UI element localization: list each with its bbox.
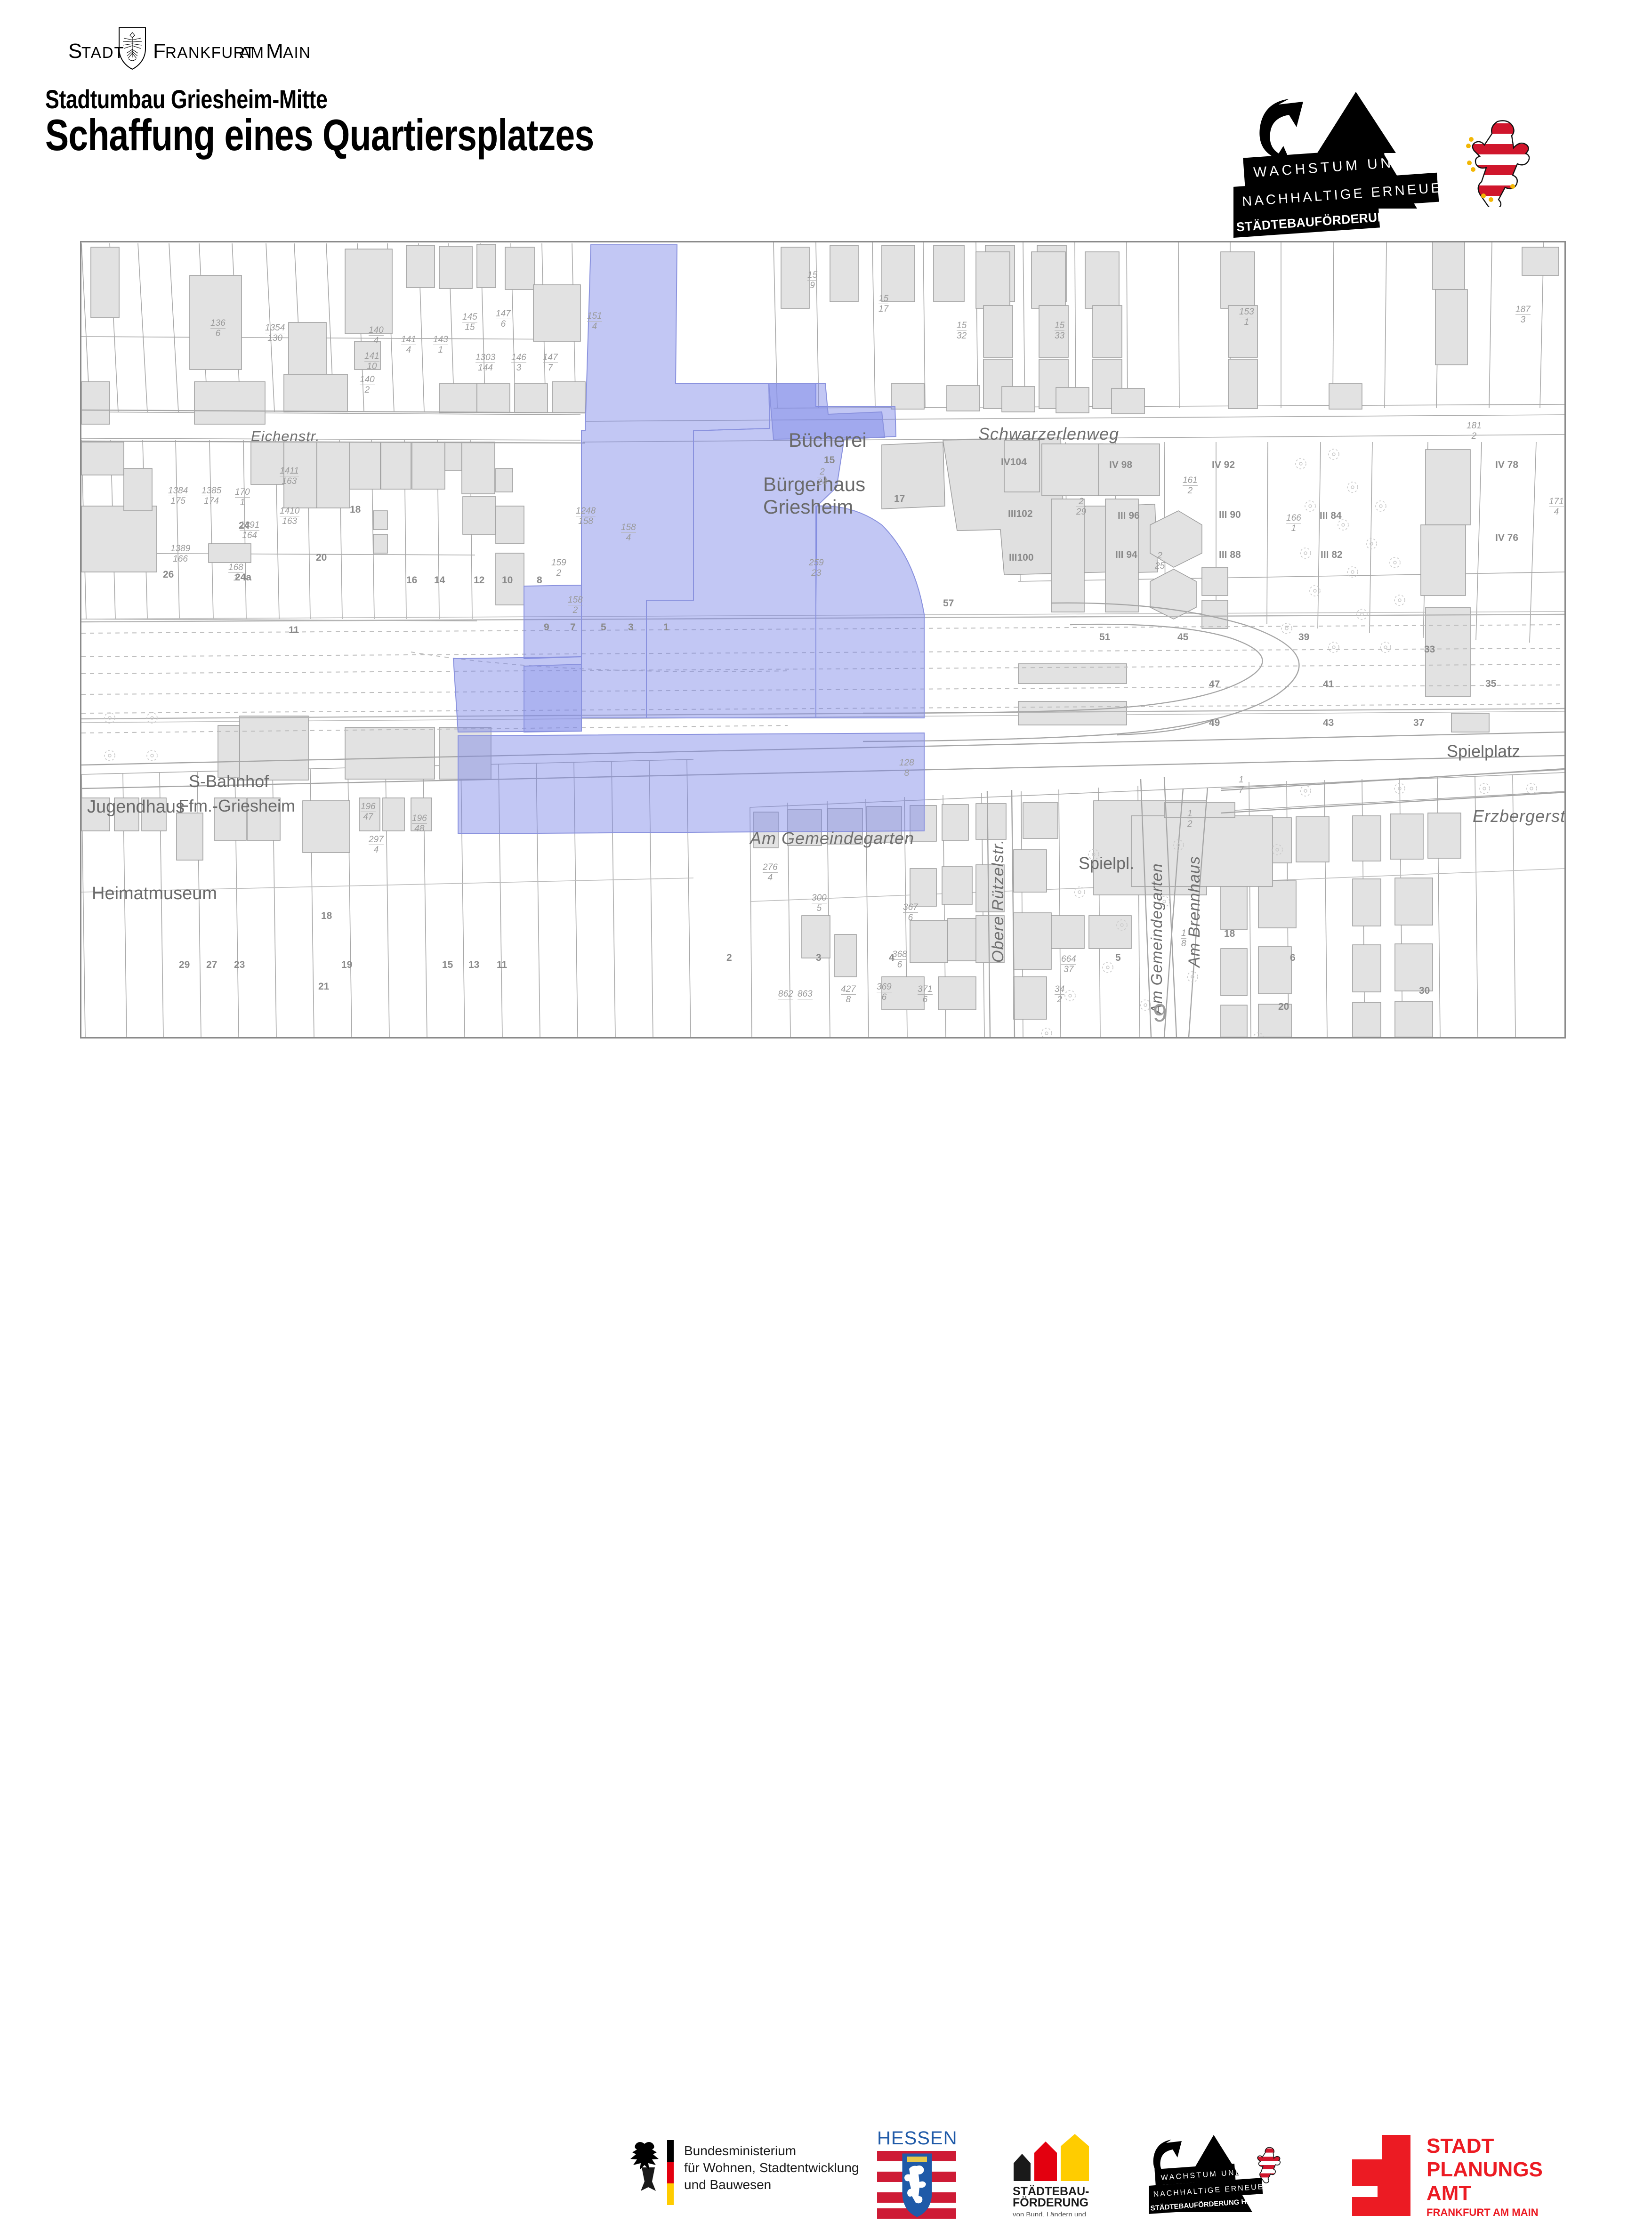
north-marker: 9	[1153, 998, 1167, 1028]
parcel-number: 19647	[361, 802, 376, 821]
house-number: 8	[537, 575, 542, 586]
house-number: 37	[1413, 717, 1424, 729]
parcel-number: 159	[807, 271, 817, 290]
house-number: III 84	[1320, 510, 1342, 522]
parcel-number: 3005	[812, 894, 827, 913]
site-map[interactable]: Eichenstr. Schwarzerlenweg Erzbergerstr.…	[80, 241, 1566, 1039]
house-number: 30	[1419, 985, 1430, 997]
hessen-wordmark: HESSEN	[877, 2129, 958, 2149]
stadtplanungsamt-logo: STADT PLANUNGS AMT FRANKFURT AM MAIN	[1332, 2130, 1568, 2220]
parcel-number: 862	[778, 990, 793, 999]
poi-label-s-bahnhof: S-Bahnhof	[189, 772, 269, 791]
house-number: IV 78	[1495, 459, 1518, 471]
poi-label-buecherei: Bücherei	[789, 429, 867, 451]
parcel-number: 1366	[210, 319, 226, 338]
house-number: 45	[1177, 632, 1188, 643]
bmwsb-line2: für Wohnen, Stadtentwicklung	[684, 2160, 859, 2175]
parcel-number: 25923	[809, 558, 824, 578]
street-label-am-gemeindegarten: Am Gemeindegarten	[750, 829, 914, 848]
parcel-number: 1701	[235, 488, 250, 507]
svg-text:AM: AM	[240, 44, 265, 61]
parcel-number: 12	[1187, 809, 1193, 829]
parcel-number: 1384175	[168, 486, 188, 506]
parcel-number: 2764	[763, 863, 778, 882]
house-number: 18	[350, 504, 361, 515]
parcel-number: 19648	[412, 814, 427, 833]
page-subtitle: Stadtumbau Griesheim-Mitte	[45, 86, 327, 113]
street-label-obere-ruetzelstr: Obere Rützelstr.	[989, 839, 1007, 963]
house-number: 35	[1485, 678, 1496, 690]
street-label-am-brennhaus: Am Brennhaus	[1185, 856, 1204, 967]
page-header: S TADT F RANKFURT AM M AIN Stadtumbau Gr…	[0, 0, 1652, 235]
house-number: 2	[726, 952, 732, 964]
three-houses-icon	[1014, 2134, 1089, 2181]
parcel-number: 863	[798, 990, 813, 999]
house-number: 5	[601, 622, 606, 633]
house-number: 33	[1424, 644, 1435, 655]
hessen-lion-crest-icon	[1452, 113, 1537, 207]
house-number: 10	[502, 575, 513, 586]
parcel-number: 1873	[1515, 305, 1531, 324]
parcel-number: 1714	[1549, 497, 1564, 516]
house-number: 41	[1323, 679, 1334, 690]
house-number: 9	[544, 622, 549, 633]
parcel-number: 3686	[892, 950, 907, 969]
house-number: 1	[663, 622, 669, 633]
spa-line2: PLANUNGS	[1426, 2158, 1543, 2181]
house-number: 39	[1298, 632, 1309, 643]
parcel-number: 3676	[903, 903, 918, 922]
house-number: 15	[442, 959, 453, 971]
street-label-erzbergerstr: Erzbergerstr.	[1473, 806, 1566, 826]
house-number: III 82	[1321, 549, 1343, 561]
parcel-number: 1391164	[240, 521, 259, 540]
parcel-number: 1303144	[475, 353, 495, 372]
house-number: 29	[179, 959, 190, 971]
house-number: IV 92	[1212, 459, 1235, 471]
house-number: 7	[570, 622, 576, 633]
hessen-logo: HESSEN	[873, 2129, 963, 2219]
house-number: 27	[206, 959, 217, 971]
hessen-lion-crest-icon	[1249, 2144, 1283, 2183]
house-number: 18	[321, 910, 332, 922]
house-number: 14	[434, 575, 445, 586]
parcel-number: 18	[1181, 929, 1186, 948]
house-number: 20	[1278, 1001, 1289, 1013]
street-label-am-gemeindegarten-ost: Am Gemeindegarten	[1148, 863, 1166, 1015]
parcel-number: 342	[1055, 985, 1064, 1004]
parcel-number: 224	[817, 467, 827, 487]
svg-text:S: S	[68, 40, 83, 63]
staedtebau-line2: FÖRDERUNG	[1013, 2196, 1088, 2209]
bmwsb-line3: und Bauwesen	[684, 2177, 771, 2192]
poi-label-griesheim: Griesheim	[763, 496, 853, 518]
parcel-number: 225	[1155, 551, 1165, 571]
parcel-number: 229	[1076, 497, 1086, 516]
parcel-number: 1582	[568, 596, 583, 615]
parcel-number: 1612	[1183, 476, 1198, 495]
poi-label-spielpl: Spielpl.	[1079, 853, 1134, 873]
parcel-number: 1431	[433, 335, 448, 354]
house-number: III100	[1009, 552, 1034, 564]
parcel-number: 1477	[543, 353, 558, 372]
house-number: 19	[341, 959, 352, 971]
house-number: 17	[894, 493, 905, 505]
staedtebaufoerderung-logo: STÄDTEBAU- FÖRDERUNG von Bund, Ländern u…	[1005, 2134, 1118, 2216]
spa-line3: AMT	[1426, 2182, 1471, 2205]
parcel-number: 1248158	[576, 507, 596, 526]
poi-label-ffm-griesheim: Ffm.-Griesheim	[178, 796, 295, 816]
house-number: 21	[318, 981, 329, 992]
house-number: 13	[468, 959, 479, 971]
parcel-number: 4278	[841, 985, 856, 1004]
parcel-number: 1354130	[265, 323, 285, 343]
parcel-number: 1288	[899, 758, 914, 778]
parcel-number: 1414	[401, 335, 416, 354]
parcel-number: 3696	[877, 982, 892, 1002]
house-number: III 90	[1219, 509, 1241, 521]
parcel-number: 1404	[369, 326, 384, 345]
house-number: III 96	[1118, 510, 1140, 522]
house-number: 18	[1224, 928, 1235, 940]
svg-text:TADT: TADT	[81, 44, 125, 61]
house-number: 12	[474, 575, 484, 586]
house-number: III 94	[1115, 549, 1137, 561]
footer-logo-bar: Bundesministerium für Wohnen, Stadtentwi…	[0, 1062, 1652, 1167]
poi-label-heimatmuseum: Heimatmuseum	[92, 884, 217, 904]
page-title: Schaffung eines Quartiersplatzes	[45, 113, 594, 157]
parcel-number: 14110	[364, 352, 379, 371]
parcel-number: 1661	[1286, 514, 1301, 533]
parcel-number: 1592	[551, 558, 566, 578]
parcel-number: 1514	[587, 312, 602, 331]
parcel-number: 1532	[957, 321, 967, 340]
spa-line1: STADT	[1426, 2134, 1494, 2158]
parcel-number: 1389166	[170, 544, 190, 564]
parcel-number: 3716	[918, 985, 933, 1004]
house-number: 16	[406, 575, 417, 586]
house-number: III 88	[1219, 549, 1241, 561]
poi-label-jugendhaus: Jugendhaus	[87, 797, 185, 817]
house-number: 15	[824, 455, 835, 466]
bundesadler-icon	[630, 2142, 659, 2191]
parcel-number: 2974	[369, 835, 384, 854]
parcel-number: 1402	[360, 375, 375, 394]
house-number: 26	[163, 569, 174, 580]
parcel-number: 17	[1239, 775, 1244, 795]
wachstum-logo-small: WACHSTUM UND NACHHALTIGE ERNEUERUNG STÄD…	[1149, 2134, 1299, 2216]
svg-text:AIN: AIN	[283, 44, 311, 61]
spa-line4: FRANKFURT AM MAIN	[1426, 2206, 1538, 2218]
house-number: 3	[628, 622, 634, 633]
house-number: IV 76	[1495, 532, 1518, 544]
svg-text:M: M	[266, 40, 284, 63]
house-number: 6	[1290, 952, 1296, 964]
parcel-number: 1812	[1467, 421, 1482, 441]
house-number: 43	[1323, 717, 1334, 729]
house-number: 11	[497, 959, 507, 971]
street-label-eichenstr: Eichenstr.	[251, 428, 320, 445]
street-label-schwarzerlenweg: Schwarzerlenweg	[978, 424, 1119, 444]
house-number: 47	[1209, 679, 1220, 690]
poi-label-buergerhaus: Bürgerhaus	[763, 473, 865, 496]
parcel-number: 1411163	[280, 467, 299, 486]
house-number: 57	[943, 598, 954, 609]
staedtebau-line3: von Bund, Ländern und	[1013, 2211, 1086, 2216]
house-number: 51	[1099, 632, 1110, 643]
house-number: 5	[1115, 952, 1121, 964]
parcel-number: 1584	[621, 523, 636, 542]
parcel-number: 1385174	[201, 486, 221, 506]
bmwsb-logo: Bundesministerium für Wohnen, Stadtentwi…	[624, 2137, 869, 2208]
house-number: III102	[1008, 508, 1033, 520]
parcel-number: 1533	[1055, 321, 1064, 340]
house-number: 11	[289, 625, 299, 636]
hessen-lion-shield-icon	[877, 2151, 956, 2219]
house-number: IV104	[1001, 457, 1027, 468]
parcel-number: 14515	[462, 313, 477, 332]
parcel-number: 1531	[1239, 307, 1254, 327]
house-number: 49	[1209, 717, 1220, 729]
city-logo: S TADT F RANKFURT AM M AIN	[68, 26, 370, 71]
svg-text:F: F	[153, 40, 166, 63]
parcel-number: 1476	[496, 309, 511, 329]
parcel-number: 1681	[228, 563, 243, 582]
house-number: 3	[816, 952, 822, 964]
stadtplanungsamt-block-icon	[1352, 2135, 1410, 2216]
parcel-number: 1517	[878, 294, 888, 314]
house-number: 23	[234, 959, 245, 971]
bmwsb-line1: Bundesministerium	[684, 2143, 796, 2158]
poi-label-spielplatz: Spielplatz	[1447, 741, 1520, 761]
house-number: 20	[316, 552, 327, 564]
house-number: IV 98	[1109, 459, 1132, 471]
parcel-number: 1410163	[280, 507, 299, 526]
parcel-number: 66437	[1061, 955, 1076, 974]
parcel-number: 1463	[511, 353, 526, 372]
